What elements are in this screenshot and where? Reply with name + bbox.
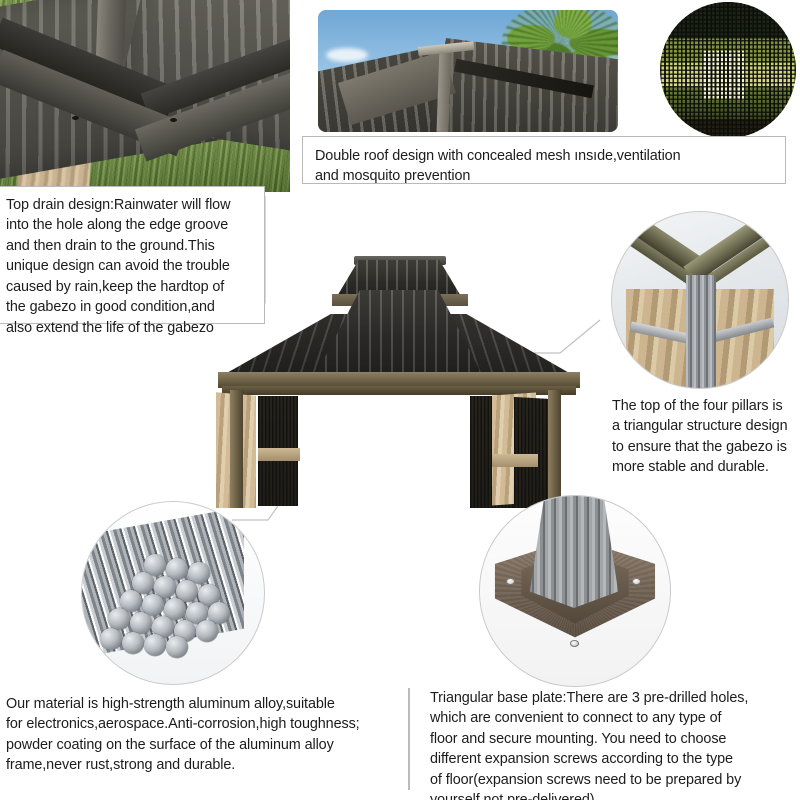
- pillar-top-triangular-photo: [612, 212, 788, 388]
- curtain-tieback: [492, 454, 538, 467]
- corner-post-left: [230, 390, 243, 508]
- callout-double-roof-design: Double roof design with concealed mesh ı…: [302, 136, 786, 184]
- predrilled-hole: [570, 640, 579, 647]
- cloud: [326, 48, 368, 62]
- roof-corner-drain-photo: [0, 0, 290, 192]
- rod-end: [122, 632, 144, 654]
- base-plate-photo: [480, 496, 670, 686]
- mosquito-mesh-photo: [660, 2, 796, 138]
- rod-end: [108, 608, 130, 630]
- callout-top-drain-design: Top drain design:Rainwater will flow int…: [0, 186, 265, 324]
- callout-base-plate: Triangular base plate:There are 3 pre-dr…: [430, 688, 800, 800]
- callout-four-pillars: The top of the four pillars is a triangu…: [612, 396, 800, 478]
- rod-end: [144, 634, 166, 656]
- rod-end: [166, 636, 188, 658]
- drain-hole: [170, 118, 177, 122]
- callout-aluminum-material: Our material is high-strength aluminum a…: [6, 694, 404, 776]
- infographic-canvas: Top drain design:Rainwater will flow int…: [0, 0, 800, 800]
- rod-end: [130, 612, 152, 634]
- rod-end: [100, 628, 122, 650]
- predrilled-hole: [632, 578, 641, 585]
- rod-end: [196, 620, 218, 642]
- drain-hole: [72, 116, 79, 120]
- curtain-tieback: [258, 448, 300, 461]
- predrilled-hole: [506, 578, 515, 585]
- mesh-weave: [660, 2, 796, 138]
- mosquito-net-panel: [514, 397, 550, 508]
- corner-post-right: [548, 390, 561, 508]
- support-post: [686, 275, 716, 388]
- aluminum-rods-photo: [82, 502, 264, 684]
- double-roof-photo: [318, 10, 618, 132]
